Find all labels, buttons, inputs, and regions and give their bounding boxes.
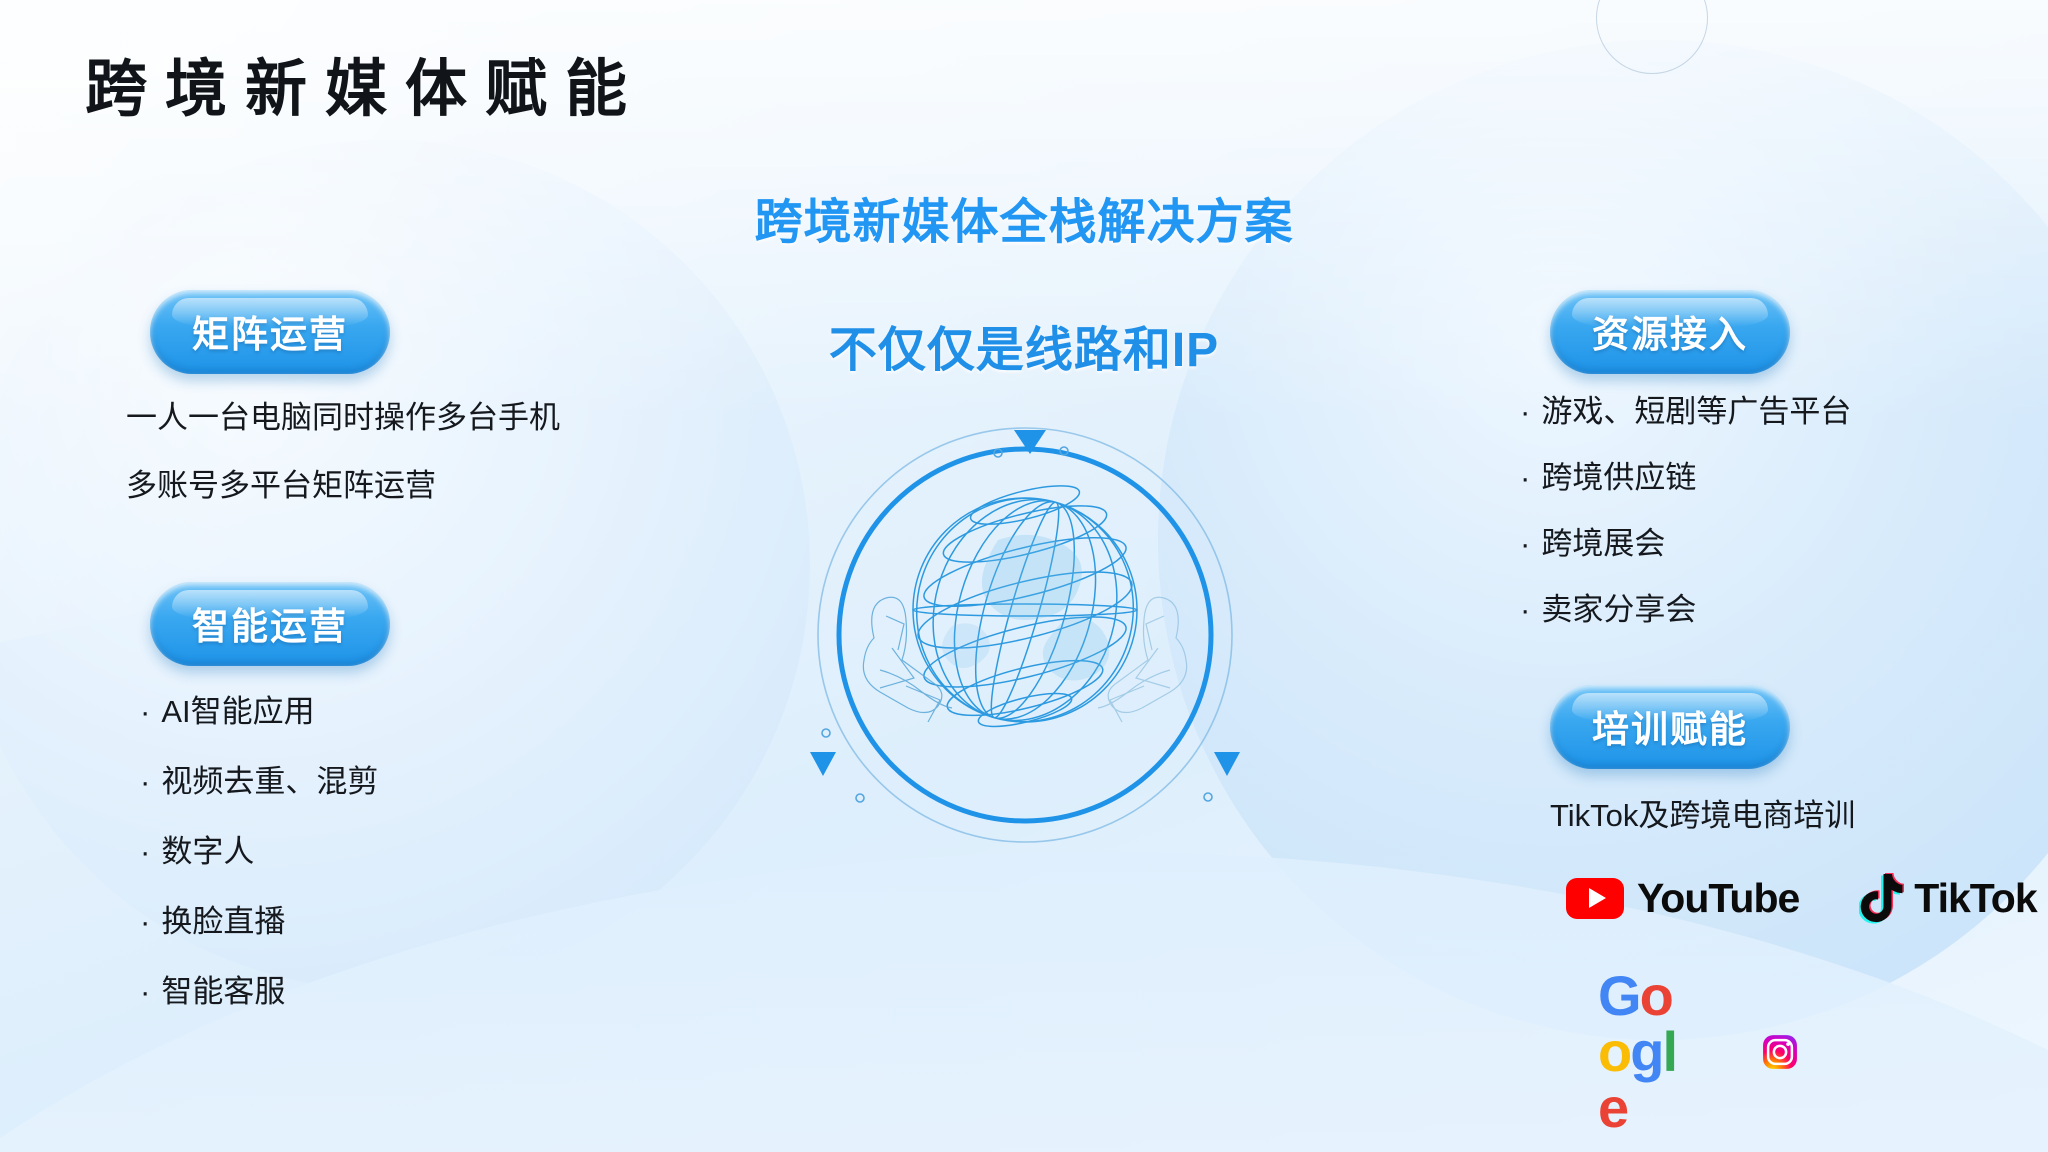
pill-smart-operations[interactable]: 智能运营 <box>150 582 390 666</box>
logo-row-secondary: Google <box>1598 968 1798 1136</box>
bullet-icon: · <box>1520 462 1530 493</box>
slide-root: 跨境新媒体赋能 跨境新媒体全栈解决方案 不仅仅是线路和IP 矩阵运营 一人一台电… <box>0 0 2048 1152</box>
youtube-play-icon <box>1566 878 1624 919</box>
bullet-icon: · <box>140 766 150 797</box>
google-logo: Google <box>1598 968 1682 1136</box>
left-section-1-item-0: 一人一台电脑同时操作多台手机 <box>126 402 560 433</box>
left-section-1-pill-wrap: 矩阵运营 <box>150 290 390 374</box>
instagram-logo <box>1762 1013 1798 1091</box>
left-section-1-item-1: 多账号多平台矩阵运营 <box>126 470 436 501</box>
youtube-wordmark: YouTube <box>1637 875 1799 922</box>
left-section-2-item-4: 智能客服 <box>161 976 285 1007</box>
list-item: · 视频去重、混剪 <box>140 766 378 797</box>
list-item: · 跨境展会 <box>1520 528 1665 559</box>
list-item: · 游戏、短剧等广告平台 <box>1520 396 1851 427</box>
list-item: · 卖家分享会 <box>1520 594 1696 625</box>
google-letter-1: o <box>1640 968 1672 1024</box>
headline: 跨境新媒体全栈解决方案 <box>754 182 1293 252</box>
bullet-icon: · <box>1520 594 1530 625</box>
right-section-1-item-3: 卖家分享会 <box>1541 594 1696 625</box>
right-section-2-item-0: TikTok及跨境电商培训 <box>1550 800 1855 831</box>
subheadline: 不仅仅是线路和IP <box>829 310 1219 380</box>
list-item: · 智能客服 <box>140 976 285 1007</box>
google-letter-5: e <box>1598 1080 1627 1136</box>
left-section-2-item-1: 视频去重、混剪 <box>161 766 378 797</box>
google-letter-2: o <box>1598 1024 1630 1080</box>
bullet-icon: · <box>140 696 150 727</box>
left-section-2-item-2: 数字人 <box>161 836 254 867</box>
tiktok-logo: TikTok <box>1859 872 2036 924</box>
right-section-1-item-0: 游戏、短剧等广告平台 <box>1541 396 1851 427</box>
google-letter-0: G <box>1598 968 1640 1024</box>
list-item: · 跨境供应链 <box>1520 462 1696 493</box>
left-section-2-item-0: AI智能应用 <box>161 696 314 727</box>
bullet-icon: · <box>140 906 150 937</box>
right-section-1-item-2: 跨境展会 <box>1541 528 1665 559</box>
list-item: · 数字人 <box>140 836 254 867</box>
pill-resource-access[interactable]: 资源接入 <box>1550 290 1790 374</box>
bullet-icon: · <box>1520 396 1530 427</box>
pill-training-empowerment[interactable]: 培训赋能 <box>1550 685 1790 769</box>
right-section-2-pill-wrap: 培训赋能 <box>1550 685 1790 769</box>
tiktok-note-icon <box>1859 872 1905 924</box>
google-letter-3: g <box>1630 1024 1662 1080</box>
left-section-2-pill-wrap: 智能运营 <box>150 582 390 666</box>
logo-row-primary: YouTube TikTok <box>1566 872 2037 924</box>
globe-in-hands-illustration <box>810 420 1240 850</box>
list-item: · 换脸直播 <box>140 906 285 937</box>
list-item: · AI智能应用 <box>140 696 315 727</box>
pill-matrix-operations[interactable]: 矩阵运营 <box>150 290 390 374</box>
bullet-icon: · <box>1520 528 1530 559</box>
right-section-1-item-1: 跨境供应链 <box>1541 462 1696 493</box>
page-title: 跨境新媒体赋能 <box>85 38 645 128</box>
right-section-1-pill-wrap: 资源接入 <box>1550 290 1790 374</box>
left-section-2-item-3: 换脸直播 <box>161 906 285 937</box>
tiktok-wordmark: TikTok <box>1914 875 2036 922</box>
youtube-logo: YouTube <box>1566 875 1799 922</box>
google-letter-4: l <box>1662 1024 1676 1080</box>
bullet-icon: · <box>140 976 150 1007</box>
bullet-icon: · <box>140 836 150 867</box>
